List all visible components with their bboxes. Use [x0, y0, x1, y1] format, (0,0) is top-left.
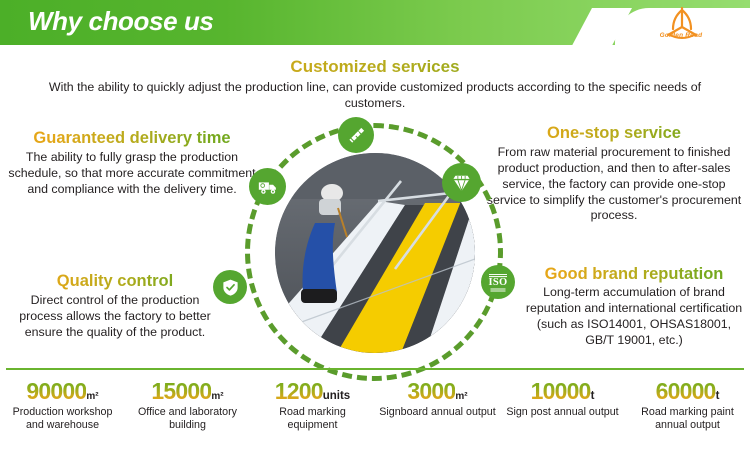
feature-title: One-stop service [486, 125, 742, 142]
stat-number: 60000 [656, 378, 716, 404]
delivery-truck-icon [249, 168, 286, 205]
pencil-edit-icon [338, 117, 374, 153]
stat-item: 3000m² Signboard annual output [375, 380, 500, 450]
diamond-gem-icon [442, 163, 481, 202]
stat-item: 60000t Road marking paint annual output [625, 380, 750, 450]
stat-number: 3000 [407, 378, 455, 404]
stat-item: 1200units Road marking equipment [250, 380, 375, 450]
stat-unit: m² [211, 391, 223, 402]
stat-label: Office and laboratory building [129, 406, 246, 431]
center-graphic: ISO [237, 119, 513, 367]
feature-title: Customized services [40, 58, 710, 76]
feature-good-brand-reputation: Good brand reputation Long-term accumula… [522, 266, 746, 348]
shield-check-icon [213, 270, 247, 304]
stat-label: Sign post annual output [504, 406, 621, 419]
stat-unit: m² [86, 391, 98, 402]
stat-unit: units [323, 390, 350, 402]
stat-number: 15000 [151, 378, 211, 404]
stat-label: Production workshop and warehouse [4, 406, 121, 431]
stat-item: 90000m² Production workshop and warehous… [0, 380, 125, 450]
feature-body: Direct control of the production process… [10, 293, 220, 340]
stat-label: Signboard annual output [379, 406, 496, 419]
stat-item: 15000m² Office and laboratory building [125, 380, 250, 450]
iso-badge-icon: ISO [481, 265, 515, 299]
stat-label: Road marking equipment [254, 406, 371, 431]
feature-guaranteed-delivery-time: Guaranteed delivery time The ability to … [6, 130, 258, 198]
stat-value-row: 60000t [629, 380, 746, 403]
feature-body: Long-term accumulation of brand reputati… [522, 285, 746, 348]
stat-item: 10000t Sign post annual output [500, 380, 625, 450]
stat-value-row: 15000m² [129, 380, 246, 403]
feature-body: The ability to fully grasp the productio… [6, 150, 258, 197]
stat-number: 10000 [531, 378, 591, 404]
feature-body: With the ability to quickly adjust the p… [40, 80, 710, 112]
stat-label: Road marking paint annual output [629, 406, 746, 431]
stat-unit: t [591, 390, 595, 402]
stat-unit: m² [455, 391, 467, 402]
stat-number: 90000 [26, 378, 86, 404]
feature-title: Quality control [10, 273, 220, 290]
feature-title: Good brand reputation [522, 266, 746, 283]
why-choose-us-infographic: Why choose us Golden Road Customized ser… [0, 0, 750, 452]
logo-wordmark: Golden Road [656, 32, 706, 39]
stats-bar: 90000m² Production workshop and warehous… [0, 380, 750, 450]
stat-number: 1200 [275, 378, 323, 404]
section-divider [6, 368, 744, 370]
page-title: Why choose us [28, 6, 214, 37]
stat-value-row: 10000t [504, 380, 621, 403]
feature-body: From raw material procurement to finishe… [486, 145, 742, 224]
feature-customized-services: Customized services With the ability to … [40, 58, 710, 111]
stat-value-row: 3000m² [379, 380, 496, 403]
feature-quality-control: Quality control Direct control of the pr… [10, 273, 220, 341]
stat-value-row: 90000m² [4, 380, 121, 403]
stat-value-row: 1200units [254, 380, 371, 403]
feature-title: Guaranteed delivery time [6, 130, 258, 147]
feature-one-stop-service: One-stop service From raw material procu… [486, 125, 742, 224]
stat-unit: t [716, 390, 720, 402]
